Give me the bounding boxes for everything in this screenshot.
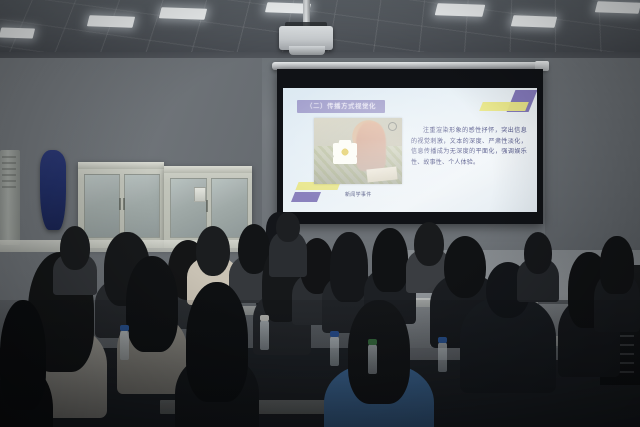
bottle-cap <box>438 337 447 343</box>
cabinet-handle <box>119 198 121 210</box>
ceiling-light-panel <box>87 15 135 28</box>
wall-outlet <box>194 187 206 202</box>
bottle-body <box>438 342 447 372</box>
ceiling-light-panel <box>595 1 640 14</box>
person-head <box>372 228 408 292</box>
cabinet-handle <box>206 200 208 212</box>
slide-caption: 新闻学事件 <box>345 191 372 198</box>
bottle-cap <box>330 331 339 337</box>
photo-flower <box>333 140 357 164</box>
slide-title: （二）传播方式视觉化 <box>297 100 385 113</box>
slide-decor-yellow-top <box>479 102 529 111</box>
bottle-body <box>368 344 377 374</box>
person-head <box>348 300 410 404</box>
bottle-body <box>120 330 129 360</box>
ceiling-light-panel <box>435 3 486 17</box>
person-head <box>0 300 46 410</box>
person-head <box>414 222 444 266</box>
blue-jacket <box>40 150 66 230</box>
ceiling-light-panel <box>511 15 557 28</box>
person-head <box>524 232 552 274</box>
person-head <box>276 212 300 242</box>
person-head <box>196 226 230 276</box>
slide-decor-purple-bottom <box>291 192 321 202</box>
person-head <box>330 232 368 302</box>
bottle-cap <box>120 325 129 331</box>
classroom-photo: （二）传播方式视觉化 注重渲染形象的感性抒怀，突出信息的视觉刺激，文本的深度、严… <box>0 0 640 427</box>
projector-lens <box>289 46 325 55</box>
cabinet-top <box>78 162 164 169</box>
person-head <box>444 236 486 298</box>
person-head <box>126 256 178 352</box>
ceiling-light-panel <box>0 27 35 38</box>
ceiling-light-panel <box>159 7 207 20</box>
photo-person <box>356 122 386 171</box>
bottle-cap <box>368 339 377 345</box>
slide-body-text: 注重渲染形象的感性抒怀，突出信息的视觉刺激，文本的深度、严肃性淡化，信息传播成为… <box>411 126 527 168</box>
cabinet-top <box>164 166 252 173</box>
person-head <box>60 226 90 270</box>
person-head <box>600 236 634 294</box>
slide-photo <box>314 118 402 184</box>
person-head <box>186 282 248 402</box>
cabinet-glass-pane <box>84 174 120 238</box>
photo-watermark-icon <box>388 122 397 131</box>
bottle-body <box>260 320 269 350</box>
projected-slide: （二）传播方式视觉化 注重渲染形象的感性抒怀，突出信息的视觉刺激，文本的深度、严… <box>283 88 537 212</box>
air-conditioner-vent <box>2 156 16 190</box>
bottle-body <box>330 336 339 366</box>
bottle-cap <box>260 315 269 321</box>
cabinet-glass-pane <box>124 174 160 238</box>
cabinet-handle <box>123 198 125 210</box>
